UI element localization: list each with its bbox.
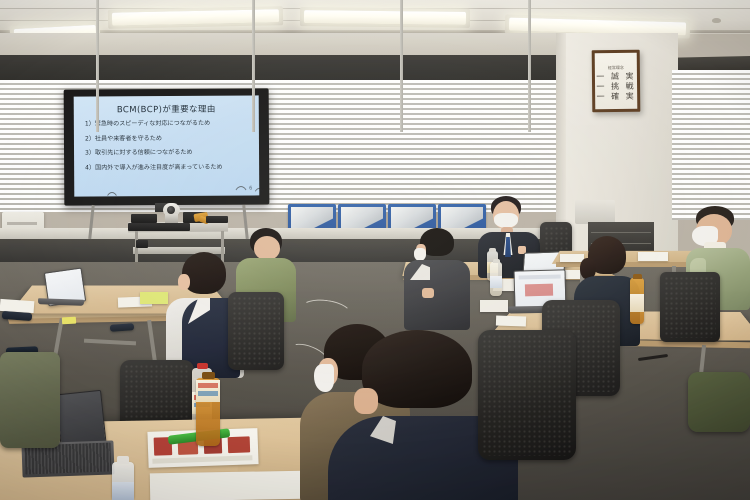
bottle-cap [489,248,496,252]
label-stripe [198,391,218,396]
calligraphy-header: 経営理念 [608,65,624,71]
slide-bullet: 3）取引先に対する信頼につながるため [85,149,251,158]
bottle-cap [202,372,215,379]
face-mask [314,364,334,392]
torso-suit [404,260,470,330]
sticky-note [62,317,76,325]
av-device [131,214,157,223]
chair-mesh [482,334,572,456]
slide-bullet: 1）緊急時のスピーディな対応につながるため [85,119,251,128]
bottle-cap [197,363,208,369]
chair [688,372,750,432]
bottle-water [490,262,502,296]
label-stripe [198,383,218,388]
video-conference-camera [163,203,180,222]
slide-page-number: 6 [249,185,252,191]
paper-document [496,315,526,326]
bottle-label [630,294,644,312]
window-blinds-right [672,70,750,220]
paper-document-foreground [150,471,310,500]
neck-skin [354,388,378,414]
display-leg [88,205,95,239]
hair [182,252,226,294]
head [254,236,280,260]
blind-divider [96,0,99,132]
blind-divider [252,0,255,132]
brochure-text-line [152,455,252,463]
ear-cheek [178,274,190,290]
blind-divider [400,0,403,132]
framed-calligraphy: 経営理念 一 誠 実 一 挑 戦 一 確 実 [592,50,641,112]
calligraphy-row: 一 誠 実 [596,73,635,81]
power-adapter [136,240,148,248]
smoke-detector-icon [712,18,721,23]
bottle-label [112,482,134,500]
calligraphy-row: 一 挑 戦 [596,83,635,91]
bottle-tea [630,278,644,324]
chair-foreground [478,330,576,460]
calligraphy-row: 一 確 実 [597,93,636,101]
bottle-cap [633,274,642,279]
camera-base [165,214,178,223]
slide-bullet: 4）国内外で導入が進み注目度が高まっているため [85,164,251,173]
cabinet-line [591,232,651,233]
cable [232,186,250,222]
cable [104,192,120,224]
ceiling-soffit [0,33,560,55]
slide-title: BCM(BCP)が重要な理由 [74,102,259,115]
bottle-tea-foreground [196,378,220,446]
bottle-water-foreground [112,462,134,500]
upper-wall-band [0,55,560,82]
slide-bullet: 2）社員や来客者を守るため [85,134,251,143]
person-grey-suit [404,228,470,328]
camera-lens-icon [167,206,175,214]
brochure-image [228,436,251,453]
bottle-label [490,276,502,288]
presentation-slide: BCM(BCP)が重要な理由 1）緊急時のスピーディな対応につながるため 2）社… [74,95,260,196]
seminar-room-photo: 経営理念 一 誠 実 一 挑 戦 一 確 実 BCM(BCP)が重要な理由 1）… [0,0,750,500]
face-mask [494,213,518,228]
chair-left-foreground [0,352,60,448]
screen-header [519,274,561,279]
bottle-cap [493,259,500,263]
av-device [128,223,190,231]
chair-mesh [232,296,280,366]
hand [422,288,434,298]
calligraphy-mat: 経営理念 一 誠 実 一 挑 戦 一 確 実 [595,53,638,109]
printer-paper-slot [7,222,37,225]
chair [660,272,720,342]
cable [252,188,266,220]
bottle-cap [117,456,129,464]
screen-content [525,284,553,297]
notebook [480,300,508,312]
av-device [206,216,228,223]
office-equipment-right [575,200,615,224]
chair-mesh [664,276,716,338]
ceiling-light-3 [304,10,466,25]
hair [362,330,472,408]
paper-document [638,252,668,261]
slide-body: 1）緊急時のスピーディな対応につながるため 2）社員や来客者を守るため 3）取引… [85,119,251,179]
chair [228,292,284,370]
blind-divider [528,0,531,132]
